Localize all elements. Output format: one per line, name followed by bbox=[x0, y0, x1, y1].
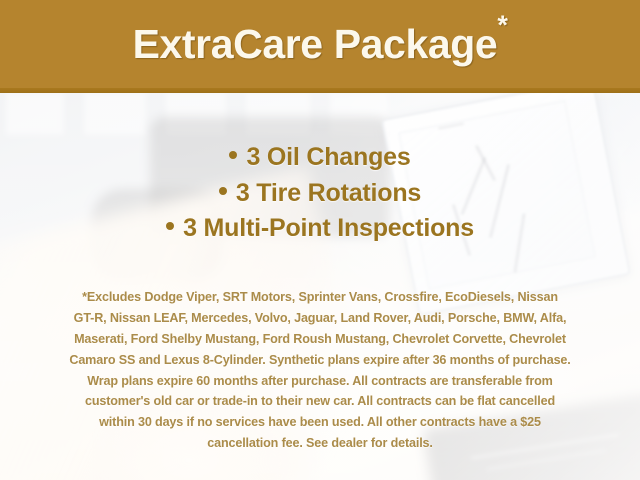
bullet-dot-icon bbox=[229, 151, 237, 159]
header-band: ExtraCare Package* bbox=[0, 0, 640, 93]
benefits-list: 3 Oil Changes 3 Tire Rotations 3 Multi-P… bbox=[0, 140, 640, 247]
title-asterisk: * bbox=[497, 10, 507, 40]
extracare-package-promo: ExtraCare Package* 3 Oil Changes 3 Tire … bbox=[0, 0, 640, 480]
benefit-item: 3 Multi-Point Inspections bbox=[0, 211, 640, 247]
header-underline bbox=[0, 88, 640, 93]
bullet-dot-icon bbox=[166, 222, 174, 230]
disclaimer-line: within 30 days if no services have been … bbox=[22, 412, 618, 433]
disclaimer-line: cancellation fee. See dealer for details… bbox=[22, 433, 618, 454]
benefit-label: 3 Tire Rotations bbox=[236, 179, 421, 207]
benefit-item: 3 Oil Changes bbox=[0, 140, 640, 176]
benefit-label: 3 Multi-Point Inspections bbox=[183, 214, 474, 242]
bullet-dot-icon bbox=[219, 187, 227, 195]
header-inner: ExtraCare Package* bbox=[0, 0, 640, 88]
disclaimer-line: customer's old car or trade-in to their … bbox=[22, 391, 618, 412]
disclaimer-line: *Excludes Dodge Viper, SRT Motors, Sprin… bbox=[22, 287, 618, 308]
page-title: ExtraCare Package* bbox=[133, 24, 508, 65]
page-title-text: ExtraCare Package bbox=[133, 21, 498, 67]
benefit-label: 3 Oil Changes bbox=[246, 143, 410, 171]
disclaimer-line: Maserati, Ford Shelby Mustang, Ford Rous… bbox=[22, 329, 618, 350]
disclaimer-line: Camaro SS and Lexus 8-Cylinder. Syntheti… bbox=[22, 350, 618, 371]
disclaimer-line: Wrap plans expire 60 months after purcha… bbox=[22, 371, 618, 392]
disclaimer-text: *Excludes Dodge Viper, SRT Motors, Sprin… bbox=[22, 287, 618, 454]
benefit-item: 3 Tire Rotations bbox=[0, 176, 640, 212]
disclaimer-line: GT-R, Nissan LEAF, Mercedes, Volvo, Jagu… bbox=[22, 308, 618, 329]
